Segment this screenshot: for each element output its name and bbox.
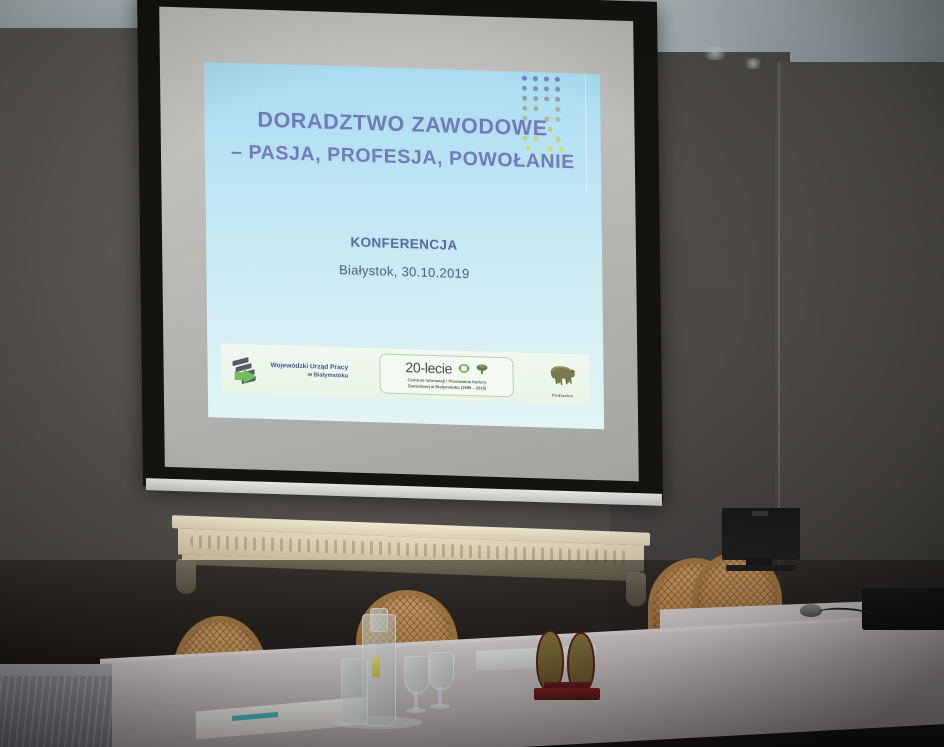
slide-dot xyxy=(533,96,538,101)
wup-logo-line2: w Białymstoku xyxy=(271,371,349,381)
wup-layers-icon xyxy=(231,354,265,385)
laptop[interactable] xyxy=(862,588,944,630)
slide-dot xyxy=(522,86,527,91)
tree-icon xyxy=(475,364,488,375)
recycle-icon xyxy=(457,364,470,373)
slide-dot xyxy=(544,86,549,91)
anniversary-logo: 20-lecie xyxy=(380,353,514,397)
slide-title-line1: DORADZTWO ZAWODOWE xyxy=(257,108,548,141)
slide-dot xyxy=(522,106,527,111)
slide-dot xyxy=(555,77,560,82)
screen-surface: DORADZTWO ZAWODOWE – PASJA, PROFESJA, PO… xyxy=(159,7,639,482)
slide-title-line2: – PASJA, PROFESJA, POWOŁANIE xyxy=(205,140,601,175)
podlaskie-logo: Podlaskie xyxy=(545,360,579,398)
conference-room-scene: DORADZTWO ZAWODOWE – PASJA, PROFESJA, PO… xyxy=(0,0,944,747)
slide-dot xyxy=(533,86,538,91)
monitor[interactable] xyxy=(722,508,800,560)
monitor-camera-icon xyxy=(752,511,768,516)
side-table-drape xyxy=(0,676,112,747)
wup-logo-text: Wojewódzki Urząd Pracy w Białymstoku xyxy=(270,362,348,381)
slide-subtitle: KONFERENCJA xyxy=(206,230,602,257)
slide-title: DORADZTWO ZAWODOWE – PASJA, PROFESJA, PO… xyxy=(204,106,601,175)
slide-dot xyxy=(555,107,560,112)
slide-dot xyxy=(533,76,538,81)
slide-dot xyxy=(533,106,538,111)
wine-goblet xyxy=(404,656,430,694)
goblet-stem xyxy=(414,691,418,709)
presentation-slide: DORADZTWO ZAWODOWE – PASJA, PROFESJA, PO… xyxy=(204,62,604,429)
slide-logo-band: Wojewódzki Urząd Pracy w Białymstoku 20-… xyxy=(221,344,590,405)
slide-date: Białystok, 30.10.2019 xyxy=(206,258,602,285)
wup-logo: Wojewódzki Urząd Pracy w Białymstoku xyxy=(231,354,348,388)
ceiling-light-fixture xyxy=(742,58,764,69)
wup-arrow-head-icon xyxy=(244,369,257,383)
trophy-base xyxy=(534,688,600,700)
bison-icon xyxy=(545,360,579,387)
drinking-tumbler xyxy=(341,658,368,724)
slide-dot xyxy=(522,96,527,101)
podlaskie-logo-caption: Podlaskie xyxy=(546,392,580,398)
slide-dot xyxy=(544,96,549,101)
projection-screen: DORADZTWO ZAWODOWE – PASJA, PROFESJA, PO… xyxy=(140,0,685,534)
goblet-foot xyxy=(430,704,450,709)
wine-goblet xyxy=(428,652,454,690)
anniversary-logo-fineprint: Centrum Informacji i Planowania Kariery … xyxy=(388,376,506,392)
monitor-base xyxy=(726,565,796,571)
slide-dot xyxy=(555,97,560,102)
slide-dot xyxy=(544,76,549,81)
lemon-slice xyxy=(372,657,380,677)
screen-frame: DORADZTWO ZAWODOWE – PASJA, PROFESJA, PO… xyxy=(137,0,663,502)
goblet-stem xyxy=(438,687,442,705)
slide-dot xyxy=(522,76,527,81)
anniversary-headline: 20-lecie xyxy=(405,359,452,376)
slide-dot xyxy=(555,87,560,92)
ceiling-light-fixture xyxy=(700,46,730,60)
goblet-foot xyxy=(406,708,426,713)
anniversary-logo-headline-row: 20-lecie xyxy=(388,358,506,378)
